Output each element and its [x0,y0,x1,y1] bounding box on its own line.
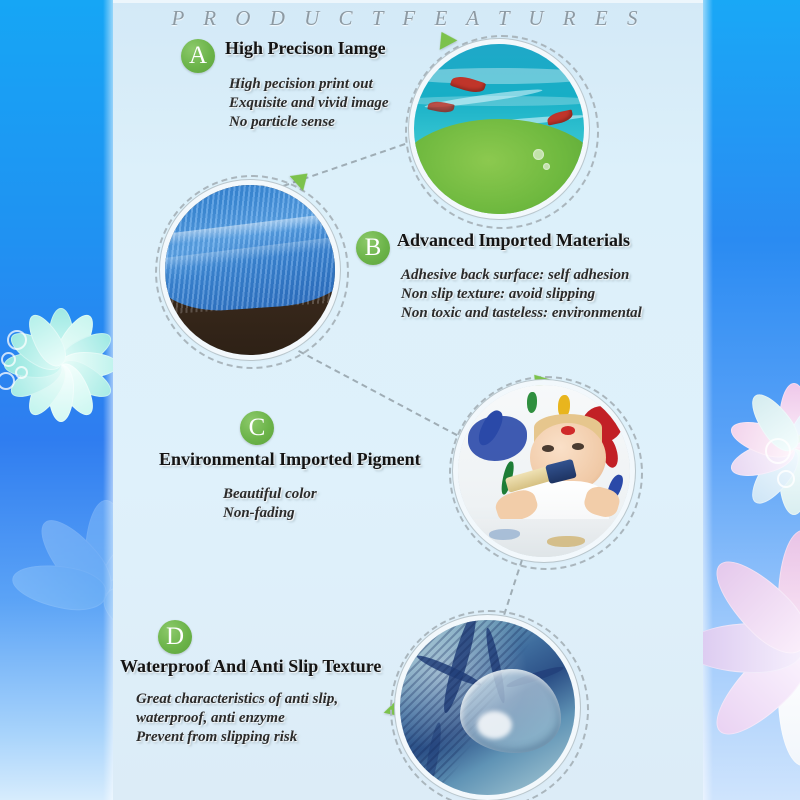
flower-decoration-right-lower [703,520,800,770]
photo-fish-print [414,44,584,214]
flower-decoration-left [0,300,113,430]
feature-title-b: Advanced Imported Materials [397,230,630,251]
panel-top-divider [113,0,703,3]
feature-badge-a: A [181,39,215,73]
photo-blue-fabric [165,185,335,355]
feature-lines-a: High pecision print out Exquisite and vi… [229,75,389,132]
photo-baby-painting [458,385,630,557]
feature-badge-d: D [158,620,192,654]
swirl-decoration [15,366,28,379]
feature-badge-c: C [240,411,274,445]
swirl-decoration [1,352,16,367]
connector-line-b-to-c [298,350,476,446]
feature-lines-c: Beautiful color Non-fading [223,485,317,523]
page-title: P R O D U C T F E A T U R E S [113,6,703,31]
ghost-flower-decoration [0,480,113,710]
feature-title-d: Waterproof And Anti Slip Texture [120,656,381,677]
feature-lines-d: Great characteristics of anti slip, wate… [136,690,338,747]
right-decorative-border [703,0,800,800]
swirl-decoration [7,330,27,350]
product-features-infographic: P R O D U C T F E A T U R E S A High Pre… [0,0,800,800]
content-panel: P R O D U C T F E A T U R E S A High Pre… [113,0,703,800]
feature-title-c: Environmental Imported Pigment [159,449,421,470]
swirl-decoration [777,470,795,488]
swirl-decoration [765,438,791,464]
left-decorative-border [0,0,113,800]
feature-title-a: High Precison Iamge [225,38,386,59]
flower-decoration-right-top [703,0,800,190]
feature-lines-b: Adhesive back surface: self adhesion Non… [401,266,642,323]
photo-water-drop [400,620,575,795]
feature-badge-b: B [356,231,390,265]
